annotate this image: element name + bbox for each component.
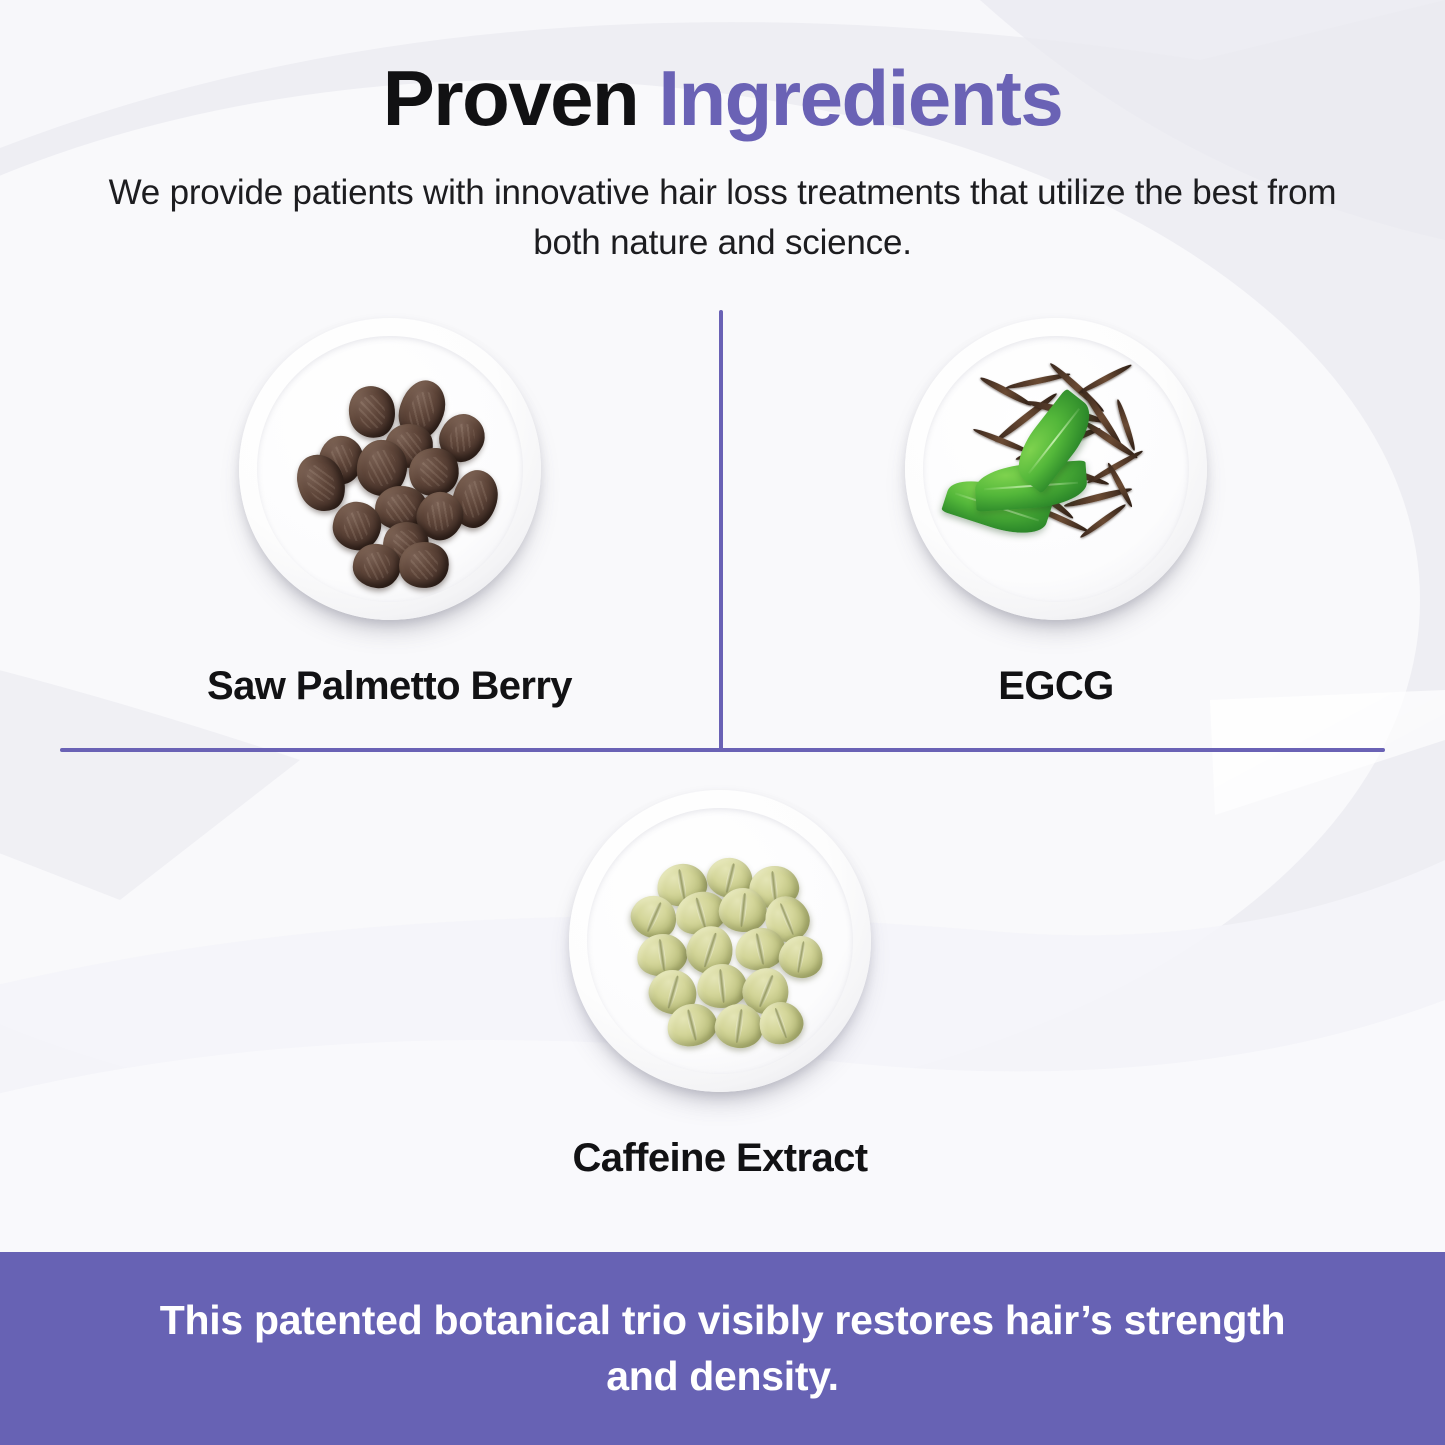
ingredient-cell-egcg: EGCG (727, 318, 1385, 709)
divider-vertical (719, 310, 723, 752)
petri-dish-saw-palmetto-icon (239, 318, 541, 620)
title-part-ingredients: Ingredients (658, 54, 1062, 142)
petri-dish-egcg-icon (905, 318, 1207, 620)
page-subtitle: We provide patients with innovative hair… (88, 168, 1358, 267)
saw-palmetto-berries-group (257, 336, 523, 602)
green-coffee-beans-group (587, 808, 853, 1074)
title-part-proven: Proven (383, 54, 659, 142)
footer-banner-text: This patented botanical trio visibly res… (133, 1293, 1313, 1405)
page-title: Proven Ingredients (0, 58, 1445, 140)
dish-wrap-caffeine (390, 790, 1050, 1092)
ingredients-infographic: Proven Ingredients We provide patients w… (0, 0, 1445, 1445)
header: Proven Ingredients We provide patients w… (0, 0, 1445, 267)
ingredient-label-saw-palmetto: Saw Palmetto Berry (60, 664, 719, 709)
green-tea-group (923, 336, 1189, 602)
footer-banner: This patented botanical trio visibly res… (0, 1252, 1445, 1445)
petri-dish-caffeine-icon (569, 790, 871, 1092)
dish-wrap-saw-palmetto (60, 318, 719, 620)
ingredient-label-egcg: EGCG (727, 664, 1385, 709)
ingredient-cell-caffeine: Caffeine Extract (390, 790, 1050, 1181)
dish-wrap-egcg (727, 318, 1385, 620)
ingredient-label-caffeine: Caffeine Extract (390, 1136, 1050, 1181)
ingredient-cell-saw-palmetto: Saw Palmetto Berry (60, 318, 719, 709)
divider-horizontal (60, 748, 1385, 752)
